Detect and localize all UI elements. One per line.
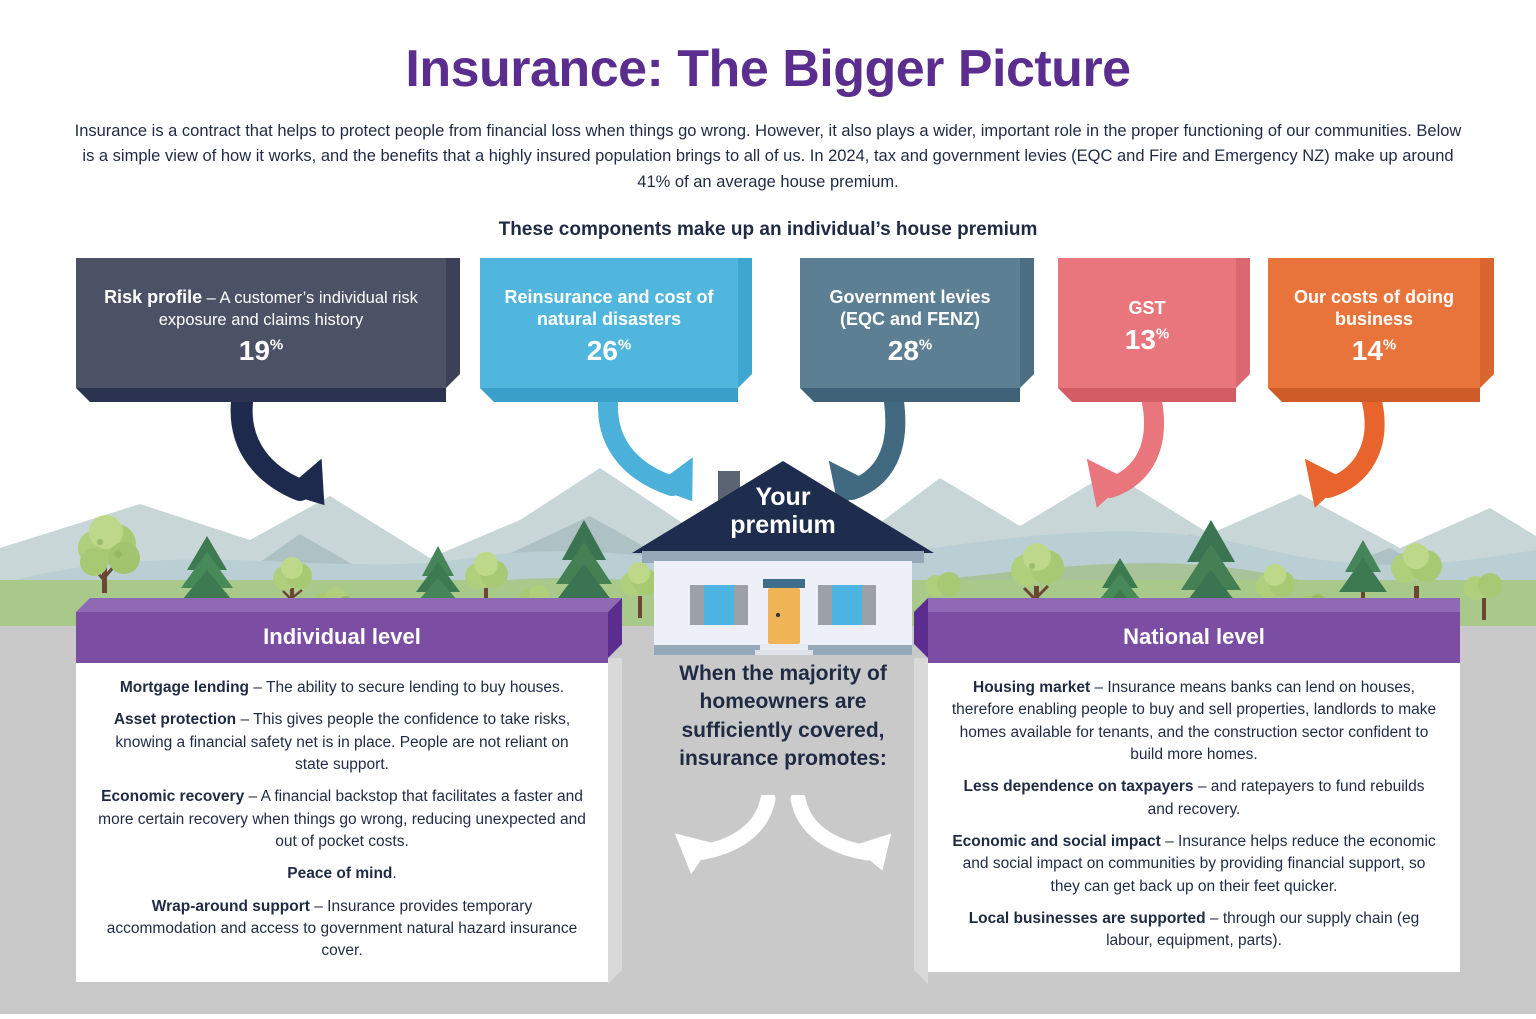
panel-body-national: Housing market – Insurance means banks c… [928,663,1460,972]
list-item: Less dependence on taxpayers – and ratep… [950,776,1438,821]
premium-box-percent: 28% [814,337,1006,365]
list-item: Mortgage lending – The ability to secure… [98,677,586,699]
page-title: Insurance: The Bigger Picture [0,42,1536,97]
door-canopy [763,579,805,588]
intro-paragraph: Insurance is a contract that helps to pr… [68,119,1468,196]
premium-box-label: Reinsurance and cost of natural disaster… [494,287,724,330]
panel-individual-level[interactable]: Individual level Mortgage lending – The … [76,612,608,982]
premium-box-reinsurance[interactable]: Reinsurance and cost of natural disaster… [480,258,738,388]
premium-box-label: Our costs of doing business [1282,287,1466,330]
premium-box-risk-profile[interactable]: Risk profile – A customer’s individual r… [76,258,446,388]
premium-box-percent: 13% [1072,326,1222,354]
premium-box-label: GST [1072,298,1222,320]
panel-heading-individual: Individual level [76,612,608,663]
split-arrows [650,795,916,895]
your-premium-label: Your premium [618,483,948,539]
premium-box-percent: 14% [1282,337,1466,365]
list-item: Economic recovery – A financial backstop… [98,786,586,853]
panel-body-individual: Mortgage lending – The ability to secure… [76,663,608,982]
premium-box-gst[interactable]: GST 13% [1058,258,1236,388]
panel-body-shadow [608,658,622,984]
premium-box-percent: 26% [494,337,724,365]
list-item: Local businesses are supported – through… [950,908,1438,953]
list-item: Peace of mind. [98,863,586,885]
arrow-left-white [661,799,768,874]
premium-box-cost-of-business[interactable]: Our costs of doing business 14% [1268,258,1480,388]
list-item: Housing market – Insurance means banks c… [950,677,1438,766]
premium-box-label: Risk profile – A customer’s individual r… [90,287,432,331]
premium-box-percent: 19% [90,337,432,365]
panel-bevel-top [76,598,622,612]
premium-box-government-levies[interactable]: Government levies (EQC and FENZ) 28% [800,258,1020,388]
window-right [818,585,876,625]
premium-components-row: Risk profile – A customer’s individual r… [0,258,1536,408]
list-item: Economic and social impact – Insurance h… [950,831,1438,898]
panel-heading-national: National level [928,612,1460,663]
premium-box-label: Government levies (EQC and FENZ) [814,287,1006,330]
house-illustration: Your premium [618,455,948,630]
components-subtitle: These components make up an individual’s… [0,219,1536,241]
arrow-right-white [798,799,906,876]
list-item: Wrap-around support – Insurance provides… [98,896,586,963]
header: Insurance: The Bigger Picture Insurance … [0,0,1536,210]
front-door [768,588,800,644]
house-caption: When the majority of homeowners are suff… [648,660,918,773]
list-item: Asset protection – This gives people the… [98,709,586,776]
panel-bevel-top [914,598,1460,612]
window-left [690,585,748,625]
panel-national-level[interactable]: National level Housing market – Insuranc… [928,612,1460,972]
